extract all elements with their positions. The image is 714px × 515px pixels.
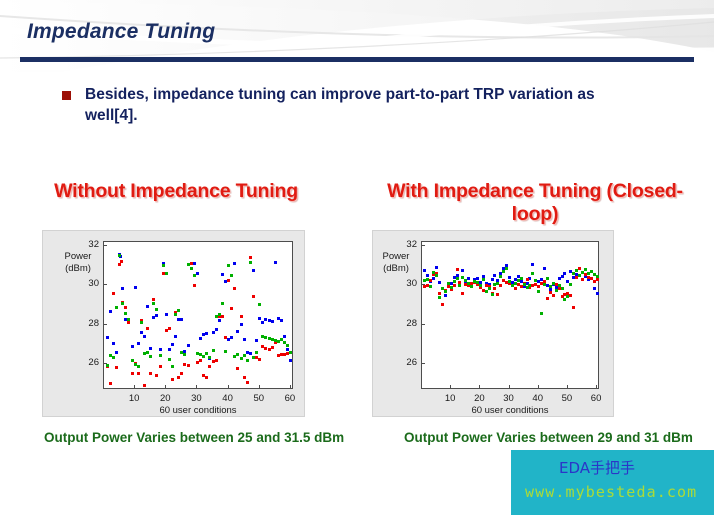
scatter-point: [233, 262, 236, 265]
scatter-point: [426, 278, 429, 281]
scatter-point: [215, 328, 218, 331]
bullet-row: Besides, impedance tuning can improve pa…: [62, 84, 662, 126]
scatter-point: [555, 289, 558, 292]
scatter-point: [552, 282, 555, 285]
scatter-point: [199, 337, 202, 340]
chart-without-impedance-tuning: 26283032102030405060Power(dBm)60 user co…: [42, 230, 305, 417]
scatter-point: [137, 365, 140, 368]
scatter-point: [458, 284, 461, 287]
x-tick-label: 50: [556, 393, 578, 404]
scatter-point: [230, 307, 233, 310]
scatter-point: [289, 359, 292, 362]
watermark-brand-text: EDA手把手: [559, 457, 635, 478]
scatter-point: [499, 284, 502, 287]
scatter-point: [252, 295, 255, 298]
scatter-point: [236, 330, 239, 333]
scatter-point: [444, 290, 447, 293]
scatter-point: [155, 374, 158, 377]
scatter-point: [549, 285, 552, 288]
scatter-point: [187, 344, 190, 347]
chart-right-inner: 26283032102030405060Power(dBm)60 user co…: [373, 231, 613, 416]
scatter-point: [112, 356, 115, 359]
scatter-point: [221, 273, 224, 276]
scatter-point: [499, 275, 502, 278]
scatter-point: [131, 345, 134, 348]
scatter-point: [444, 294, 447, 297]
scatter-point: [120, 260, 123, 263]
caption-left: Output Power Varies between 25 and 31.5 …: [44, 429, 364, 447]
scatter-point: [199, 359, 202, 362]
y-tick-label: 30: [397, 278, 417, 289]
x-tick-label: 60: [585, 393, 607, 404]
scatter-point: [258, 317, 261, 320]
scatter-point: [152, 316, 155, 319]
scatter-point: [233, 287, 236, 290]
title-underline-rule: [20, 57, 694, 62]
scatter-point: [193, 274, 196, 277]
scatter-point: [453, 284, 456, 287]
scatter-point: [159, 348, 162, 351]
scatter-point: [461, 292, 464, 295]
y-tick-mark: [103, 245, 107, 246]
scatter-point: [252, 356, 255, 359]
scatter-point: [508, 276, 511, 279]
scatter-point: [456, 268, 459, 271]
scatter-point: [246, 381, 249, 384]
scatter-point: [578, 274, 581, 277]
x-tick-mark: [596, 385, 597, 389]
scatter-point: [271, 346, 274, 349]
scatter-point: [155, 308, 158, 311]
scatter-point: [212, 349, 215, 352]
x-tick-mark: [509, 385, 510, 389]
scatter-point: [543, 283, 546, 286]
scatter-point: [115, 351, 118, 354]
scatter-point: [240, 315, 243, 318]
scatter-point: [159, 365, 162, 368]
scatter-point: [561, 287, 564, 290]
scatter-point: [552, 294, 555, 297]
scatter-point: [243, 354, 246, 357]
scatter-point: [271, 320, 274, 323]
scatter-point: [596, 275, 599, 278]
scatter-point: [240, 357, 243, 360]
scatter-point: [438, 292, 441, 295]
scatter-point: [432, 277, 435, 280]
scatter-point: [159, 354, 162, 357]
scatter-point: [258, 358, 261, 361]
page-title: Impedance Tuning: [27, 20, 215, 44]
y-tick-mark: [421, 324, 425, 325]
x-tick-label: 10: [123, 393, 145, 404]
chart-left-inner: 26283032102030405060Power(dBm)60 user co…: [43, 231, 304, 416]
scatter-point: [149, 372, 152, 375]
x-tick-mark: [538, 385, 539, 389]
scatter-point: [255, 351, 258, 354]
plot-area: [103, 241, 293, 389]
scatter-point: [563, 272, 566, 275]
scatter-point: [243, 376, 246, 379]
y-tick-label: 28: [397, 318, 417, 329]
watermark-badge: EDA手把手 www.mybesteda.com: [511, 450, 714, 515]
scatter-point: [193, 284, 196, 287]
scatter-point: [534, 279, 537, 282]
scatter-point: [193, 262, 196, 265]
scatter-point: [190, 262, 193, 265]
scatter-point: [115, 366, 118, 369]
scatter-point: [423, 269, 426, 272]
scatter-point: [243, 338, 246, 341]
scatter-point: [137, 372, 140, 375]
x-tick-mark: [290, 385, 291, 389]
scatter-point: [286, 344, 289, 347]
x-tick-label: 40: [527, 393, 549, 404]
scatter-point: [165, 272, 168, 275]
y-tick-label: 26: [397, 357, 417, 368]
x-tick-label: 10: [439, 393, 461, 404]
scatter-point: [596, 278, 599, 281]
x-tick-label: 50: [248, 393, 270, 404]
scatter-point: [236, 367, 239, 370]
scatter-point: [496, 282, 499, 285]
scatter-point: [508, 280, 511, 283]
y-tick-mark: [103, 284, 107, 285]
scatter-point: [205, 376, 208, 379]
scatter-point: [149, 355, 152, 358]
scatter-point: [112, 342, 115, 345]
scatter-point: [520, 277, 523, 280]
scatter-point: [438, 281, 441, 284]
scatter-point: [491, 293, 494, 296]
scatter-point: [537, 290, 540, 293]
scatter-point: [258, 303, 261, 306]
scatter-point: [115, 306, 118, 309]
scatter-point: [491, 278, 494, 281]
scatter-point: [177, 376, 180, 379]
scatter-point: [171, 378, 174, 381]
scatter-point: [435, 274, 438, 277]
scatter-point: [121, 302, 124, 305]
scatter-point: [218, 313, 221, 316]
caption-right: Output Power Varies between 29 and 31 dB…: [404, 429, 704, 447]
scatter-point: [429, 285, 432, 288]
scatter-point: [131, 372, 134, 375]
scatter-point: [435, 266, 438, 269]
scatter-point: [208, 356, 211, 359]
scatter-point: [246, 359, 249, 362]
scatter-point: [124, 306, 127, 309]
scatter-point: [493, 287, 496, 290]
scatter-point: [531, 263, 534, 266]
scatter-point: [236, 353, 239, 356]
x-tick-label: 30: [185, 393, 207, 404]
scatter-point: [450, 286, 453, 289]
scatter-point: [180, 318, 183, 321]
scatter-point: [572, 306, 575, 309]
scatter-point: [177, 309, 180, 312]
scatter-point: [537, 285, 540, 288]
slide-canvas: Impedance Tuning Besides, impedance tuni…: [0, 0, 714, 515]
scatter-point: [180, 372, 183, 375]
scatter-point: [581, 271, 584, 274]
y-axis-label: Power(dBm): [373, 251, 419, 275]
y-tick-label: 30: [79, 278, 99, 289]
scatter-point: [127, 318, 130, 321]
scatter-point: [118, 263, 121, 266]
scatter-point: [174, 335, 177, 338]
scatter-point: [224, 350, 227, 353]
x-tick-label: 20: [154, 393, 176, 404]
watermark-url-text: www.mybesteda.com: [525, 483, 697, 501]
y-tick-mark: [421, 284, 425, 285]
scatter-point: [146, 351, 149, 354]
scatter-point: [540, 312, 543, 315]
scatter-point: [581, 278, 584, 281]
scatter-point: [134, 286, 137, 289]
scatter-point: [447, 282, 450, 285]
scatter-point: [230, 274, 233, 277]
scatter-point: [543, 267, 546, 270]
scatter-point: [227, 264, 230, 267]
scatter-point: [205, 332, 208, 335]
scatter-point: [438, 296, 441, 299]
scatter-point: [569, 294, 572, 297]
chart-with-impedance-tuning: 26283032102030405060Power(dBm)60 user co…: [372, 230, 614, 417]
scatter-point: [482, 278, 485, 281]
y-tick-mark: [421, 363, 425, 364]
scatter-point: [528, 277, 531, 280]
scatter-point: [461, 269, 464, 272]
scatter-point: [196, 272, 199, 275]
scatter-point: [149, 347, 152, 350]
scatter-point: [131, 359, 134, 362]
scatter-point: [168, 348, 171, 351]
x-tick-mark: [450, 385, 451, 389]
scatter-point: [249, 261, 252, 264]
x-tick-mark: [567, 385, 568, 389]
scatter-point: [143, 384, 146, 387]
y-tick-mark: [103, 363, 107, 364]
scatter-point: [531, 272, 534, 275]
scatter-point: [212, 331, 215, 334]
scatter-point: [224, 336, 227, 339]
y-tick-label: 28: [79, 318, 99, 329]
scatter-point: [546, 297, 549, 300]
plot-area: [421, 241, 599, 389]
scatter-point: [502, 270, 505, 273]
scatter-point: [155, 314, 158, 317]
heading-without-impedance-tuning: Without Impedance Tuning: [6, 180, 346, 203]
y-tick-label: 26: [79, 357, 99, 368]
y-tick-mark: [421, 245, 425, 246]
scatter-point: [252, 269, 255, 272]
scatter-point: [456, 277, 459, 280]
y-tick-mark: [103, 324, 107, 325]
scatter-point: [426, 274, 429, 277]
scatter-point: [218, 319, 221, 322]
scatter-point: [227, 279, 230, 282]
y-axis-label: Power(dBm): [55, 251, 101, 275]
scatter-point: [215, 359, 218, 362]
scatter-point: [505, 267, 508, 270]
scatter-point: [171, 343, 174, 346]
x-tick-mark: [134, 385, 135, 389]
scatter-point: [205, 352, 208, 355]
scatter-point: [488, 287, 491, 290]
scatter-point: [190, 267, 193, 270]
scatter-point: [563, 298, 566, 301]
scatter-point: [528, 284, 531, 287]
bullet-text: Besides, impedance tuning can improve pa…: [85, 84, 625, 126]
scatter-point: [280, 319, 283, 322]
scatter-point: [261, 321, 264, 324]
x-tick-mark: [479, 385, 480, 389]
scatter-point: [109, 382, 112, 385]
scatter-point: [162, 264, 165, 267]
x-tick-mark: [165, 385, 166, 389]
scatter-point: [208, 365, 211, 368]
x-tick-label: 30: [498, 393, 520, 404]
scatter-point: [249, 352, 252, 355]
scatter-point: [283, 335, 286, 338]
x-tick-mark: [259, 385, 260, 389]
scatter-point: [514, 282, 517, 285]
x-tick-label: 60: [279, 393, 301, 404]
x-axis-label: 60 user conditions: [103, 405, 293, 416]
scatter-point: [593, 287, 596, 290]
scatter-point: [249, 256, 252, 259]
scatter-point: [514, 287, 517, 290]
x-tick-label: 40: [217, 393, 239, 404]
scatter-point: [143, 335, 146, 338]
scatter-point: [152, 302, 155, 305]
scatter-point: [106, 336, 109, 339]
scatter-point: [429, 279, 432, 282]
scatter-point: [187, 263, 190, 266]
scatter-point: [566, 295, 569, 298]
heading-with-impedance-tuning: With Impedance Tuning (Closed-loop): [370, 180, 700, 226]
bullet-square-icon: [62, 91, 71, 100]
y-tick-label: 32: [397, 239, 417, 250]
x-tick-label: 20: [468, 393, 490, 404]
scatter-point: [569, 283, 572, 286]
scatter-point: [546, 277, 549, 280]
scatter-point: [470, 285, 473, 288]
scatter-point: [168, 358, 171, 361]
scatter-point: [479, 284, 482, 287]
scatter-point: [118, 254, 121, 257]
scatter-point: [596, 292, 599, 295]
scatter-point: [493, 274, 496, 277]
x-axis-label: 60 user conditions: [421, 405, 599, 416]
scatter-point: [215, 315, 218, 318]
scatter-point: [121, 287, 124, 290]
scatter-point: [485, 290, 488, 293]
scatter-point: [496, 293, 499, 296]
scatter-point: [572, 272, 575, 275]
scatter-point: [240, 323, 243, 326]
scatter-point: [124, 312, 127, 315]
scatter-point: [274, 261, 277, 264]
scatter-point: [255, 339, 258, 342]
scatter-point: [140, 321, 143, 324]
scatter-point: [187, 364, 190, 367]
scatter-point: [127, 321, 130, 324]
scatter-point: [575, 269, 578, 272]
scatter-point: [168, 327, 171, 330]
scatter-point: [584, 268, 587, 271]
scatter-point: [112, 292, 115, 295]
x-tick-mark: [228, 385, 229, 389]
scatter-point: [526, 278, 529, 281]
scatter-point: [476, 277, 479, 280]
scatter-point: [221, 315, 224, 318]
scatter-point: [289, 351, 292, 354]
scatter-point: [561, 275, 564, 278]
x-tick-mark: [196, 385, 197, 389]
scatter-point: [467, 277, 470, 280]
y-tick-label: 32: [79, 239, 99, 250]
scatter-point: [165, 313, 168, 316]
scatter-point: [453, 280, 456, 283]
scatter-point: [171, 365, 174, 368]
scatter-point: [152, 298, 155, 301]
scatter-point: [140, 331, 143, 334]
scatter-point: [174, 313, 177, 316]
scatter-point: [221, 302, 224, 305]
scatter-point: [578, 267, 581, 270]
scatter-point: [183, 353, 186, 356]
scatter-point: [202, 355, 205, 358]
scatter-point: [441, 303, 444, 306]
scatter-point: [230, 336, 233, 339]
scatter-point: [146, 305, 149, 308]
scatter-point: [146, 327, 149, 330]
scatter-point: [137, 342, 140, 345]
scatter-point: [109, 310, 112, 313]
